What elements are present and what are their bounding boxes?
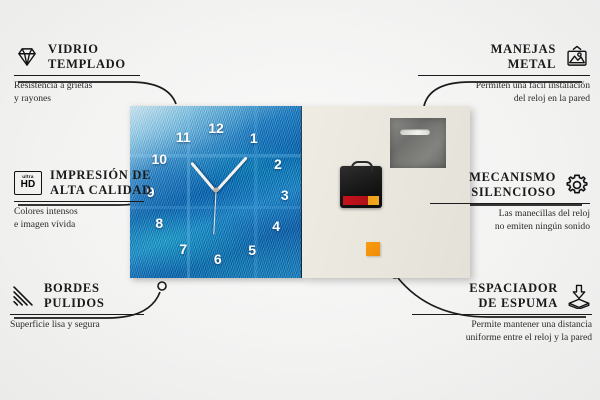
clock-numeral-5: 5: [248, 243, 256, 257]
callout-manejas-metal[interactable]: MANEJAS METAL Permiten una fácil instala…: [418, 42, 590, 106]
clock-numeral-12: 12: [208, 121, 224, 135]
clock-mechanism-box: [340, 166, 382, 208]
clock-numeral-1: 1: [250, 131, 258, 145]
callout-title: MECANISMO SILENCIOSO: [469, 170, 556, 200]
callout-header: MANEJAS METAL: [418, 42, 590, 72]
clock-numeral-4: 4: [272, 219, 280, 233]
callout-rule: [14, 201, 144, 203]
callout-header: MECANISMO SILENCIOSO: [430, 170, 590, 200]
callout-impresion-alta-calidad[interactable]: ultra HD IMPRESIÓN DE ALTA CALIDAD Color…: [14, 168, 174, 232]
callout-header: ESPACIADOR DE ESPUMA: [412, 281, 592, 311]
clock-center-pin: [214, 188, 219, 193]
polished-edge-icon: [10, 283, 36, 309]
clock-numeral-10: 10: [151, 152, 167, 166]
callout-title: BORDES PULIDOS: [44, 281, 104, 311]
clock-numeral-3: 3: [281, 188, 289, 202]
foam-spacer-square: [366, 242, 380, 256]
callout-title: IMPRESIÓN DE ALTA CALIDAD: [50, 168, 152, 198]
callout-description: Permiten una fácil instalación del reloj…: [418, 80, 590, 106]
diamond-icon: [14, 44, 40, 70]
callout-rule: [412, 314, 592, 316]
clock-numeral-11: 11: [176, 130, 191, 144]
clock-numeral-6: 6: [214, 252, 222, 266]
callout-description: Permite mantener una distancia uniforme …: [412, 319, 592, 345]
callout-title: VIDRIO TEMPLADO: [48, 42, 126, 72]
callout-vidrio-templado[interactable]: VIDRIO TEMPLADO Resistencia a grietas y …: [14, 42, 162, 106]
callout-title: ESPACIADOR DE ESPUMA: [469, 281, 558, 311]
callout-header: BORDES PULIDOS: [10, 281, 170, 311]
ultra-hd-icon: ultra HD: [14, 171, 42, 195]
callout-description: Resistencia a grietas y rayones: [14, 80, 162, 106]
callout-description: Colores intensos e imagen vívida: [14, 206, 174, 232]
product-photo: 12 1 2 3 4 5 6 7 8 9 10 11: [130, 106, 470, 278]
callout-header: ultra HD IMPRESIÓN DE ALTA CALIDAD: [14, 168, 174, 198]
ultra-hd-icon-main-label: HD: [21, 180, 36, 190]
callout-bordes-pulidos[interactable]: BORDES PULIDOS Superficie lisa y segura: [10, 281, 170, 332]
foam-spacer-icon: [566, 283, 592, 309]
infographic-canvas: 12 1 2 3 4 5 6 7 8 9 10 11: [0, 0, 600, 400]
callout-espaciador-espuma[interactable]: ESPACIADOR DE ESPUMA Permite mantener un…: [412, 281, 592, 345]
callout-rule: [430, 203, 590, 205]
callout-description: Las manecillas del reloj no emiten ningú…: [430, 208, 590, 234]
callout-mecanismo-silencioso[interactable]: MECANISMO SILENCIOSO Las manecillas del …: [430, 170, 590, 234]
callout-header: VIDRIO TEMPLADO: [14, 42, 162, 72]
hanger-slot: [400, 129, 430, 135]
mechanism-label-strip: [343, 196, 379, 205]
callout-rule: [418, 75, 590, 77]
gear-icon: [564, 172, 590, 198]
picture-hanger-icon: [564, 44, 590, 70]
metal-hanger-icon: [390, 118, 446, 168]
callout-description: Superficie lisa y segura: [10, 319, 170, 332]
clock-numeral-7: 7: [179, 242, 187, 256]
callout-rule: [14, 75, 140, 77]
mechanism-hanger-loop: [351, 161, 373, 171]
clock-numeral-2: 2: [274, 157, 282, 171]
callout-title: MANEJAS METAL: [491, 42, 556, 72]
callout-rule: [10, 314, 144, 316]
